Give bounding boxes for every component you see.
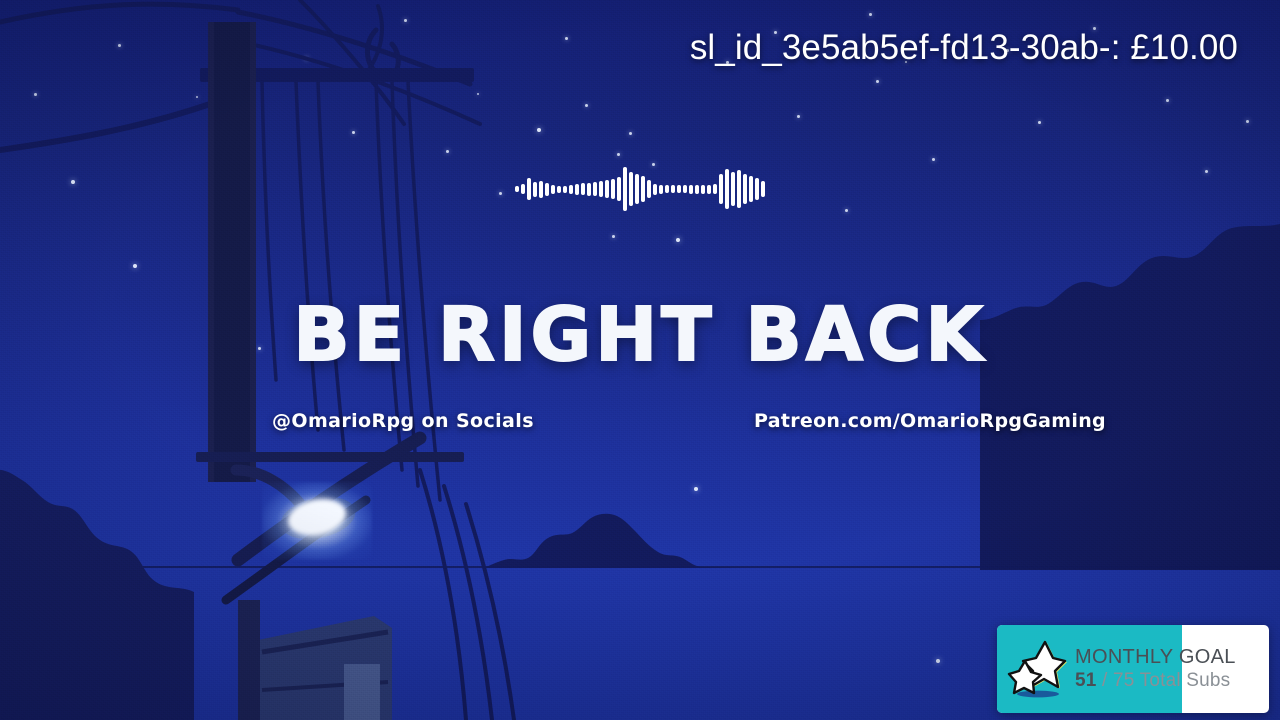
waveform-bar xyxy=(581,183,585,195)
waveform-bar xyxy=(725,169,729,209)
waveform-bar xyxy=(695,185,699,194)
waveform-bar xyxy=(641,176,645,202)
waveform-bar xyxy=(761,181,765,197)
social-handle-label: @OmarioRpg on Socials xyxy=(272,410,534,432)
monthly-goal-widget: MONTHLY GOAL 51 / 75 Total Subs xyxy=(997,625,1269,713)
waveform-bar xyxy=(635,174,639,204)
waveform-bar xyxy=(647,180,651,198)
waveform-bar xyxy=(551,185,555,194)
waveform-bar xyxy=(527,178,531,200)
waveform-bar xyxy=(683,185,687,193)
waveform-bar xyxy=(575,184,579,195)
goal-target-label: / 75 Total Subs xyxy=(1097,670,1231,691)
waveform-bar xyxy=(563,186,567,193)
audio-waveform-icon xyxy=(500,158,780,220)
waveform-bar xyxy=(665,185,669,193)
waveform-bar xyxy=(749,176,753,202)
goal-text-block: MONTHLY GOAL 51 / 75 Total Subs xyxy=(1075,646,1236,693)
waveform-bar xyxy=(719,174,723,204)
waveform-bar xyxy=(623,167,627,211)
waveform-bar xyxy=(659,185,663,194)
waveform-bar xyxy=(629,172,633,206)
page-title: BE RIGHT BACK xyxy=(0,292,1280,378)
waveform-bar xyxy=(611,179,615,199)
goal-progress-label: 51 / 75 Total Subs xyxy=(1075,669,1236,693)
waveform-bar xyxy=(599,181,603,197)
double-star-icon xyxy=(1007,638,1069,700)
waveform-bar xyxy=(755,178,759,200)
waveform-bar xyxy=(743,174,747,204)
waveform-bar xyxy=(587,183,591,196)
waveform-bar xyxy=(521,184,525,194)
waveform-bar xyxy=(689,185,693,194)
waveform-bar xyxy=(557,186,561,193)
waveform-bar xyxy=(731,172,735,206)
waveform-bar xyxy=(713,184,717,194)
waveform-bar xyxy=(677,185,681,193)
waveform-bar xyxy=(707,185,711,194)
donation-alert-text: sl_id_3e5ab5ef-fd13-30ab-: £10.00 xyxy=(690,28,1238,68)
patreon-link-label: Patreon.com/OmarioRpgGaming xyxy=(754,410,1106,432)
stream-overlay-stage: sl_id_3e5ab5ef-fd13-30ab-: £10.00 BE RIG… xyxy=(0,0,1280,720)
waveform-bar xyxy=(701,185,705,194)
goal-title-label: MONTHLY GOAL xyxy=(1075,646,1236,669)
waveform-bar xyxy=(737,170,741,208)
waveform-bar xyxy=(539,181,543,198)
waveform-bar xyxy=(515,186,519,192)
waveform-bar xyxy=(653,184,657,195)
goal-current-value: 51 xyxy=(1075,670,1097,691)
waveform-bar xyxy=(545,183,549,196)
waveform-bar xyxy=(569,185,573,194)
waveform-bar xyxy=(671,185,675,193)
waveform-bar xyxy=(593,182,597,196)
waveform-bar xyxy=(533,182,537,197)
waveform-bar xyxy=(617,177,621,201)
waveform-bar xyxy=(605,180,609,198)
